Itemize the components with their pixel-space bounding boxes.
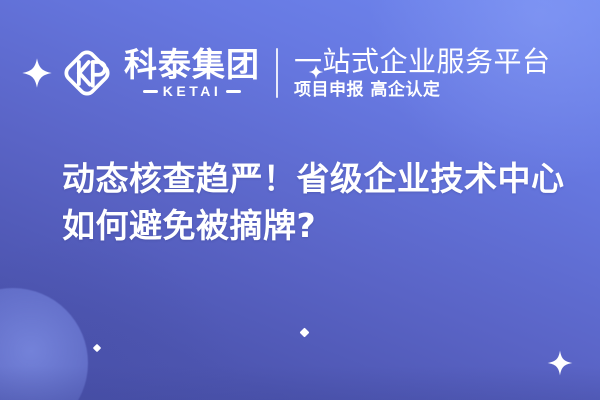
logo-rule-right [226, 90, 241, 93]
header-divider [276, 48, 278, 98]
logo-company-cn: 科泰集团 [124, 48, 260, 82]
sparkle-diamond-center-icon [300, 328, 310, 338]
sparkle-star-header-icon [22, 58, 52, 88]
banner-title-line-2: 如何避免被摘牌? [62, 202, 572, 249]
tagline-sub: 项目申报 高企认定 [294, 79, 551, 101]
banner-title: 动态核查趋严！省级企业技术中心 如何避免被摘牌? [62, 155, 572, 249]
banner-header: 科泰集团 KETAI 一站式企业服务平台 项目申报 高企认定 [0, 38, 600, 108]
promo-banner: 科泰集团 KETAI 一站式企业服务平台 项目申报 高企认定 动态核查趋严！省级… [0, 0, 600, 400]
sparkle-star-right-icon [547, 350, 573, 376]
ketai-diamond-kp-monogram-icon [58, 44, 116, 102]
banner-title-line-1: 动态核查趋严！省级企业技术中心 [62, 155, 572, 202]
sparkle-star-tagline-icon [308, 64, 324, 80]
logo-company-latin: KETAI [163, 84, 221, 98]
logo-rule-left [143, 90, 158, 93]
tagline-block: 一站式企业服务平台 项目申报 高企认定 [294, 46, 551, 101]
logo-wordmark: 科泰集团 KETAI [124, 48, 260, 98]
logo-company-latin-row: KETAI [143, 84, 241, 98]
tagline-main: 一站式企业服务平台 [294, 46, 551, 78]
background-bottom-band [0, 366, 600, 400]
